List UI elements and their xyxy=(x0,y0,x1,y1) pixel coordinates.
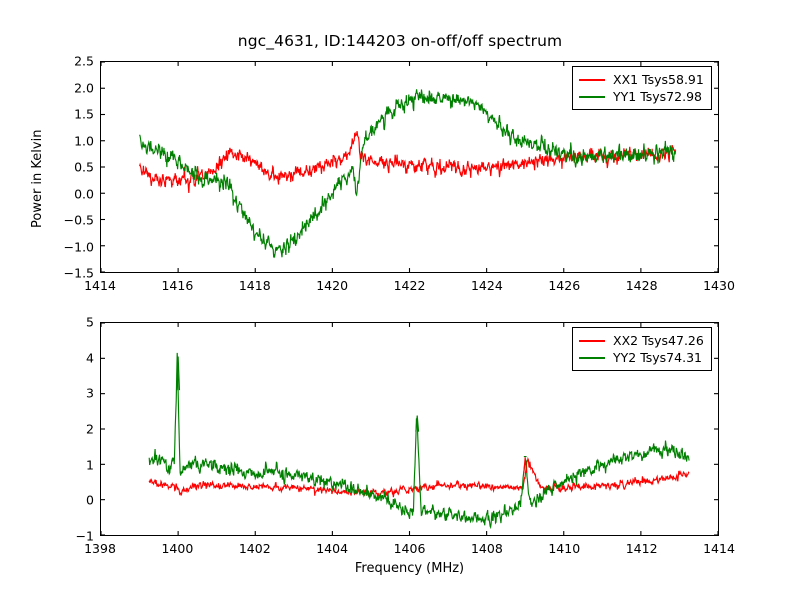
legend-item: YY1 Tsys72.98 xyxy=(579,88,704,105)
x-tick-label: 1404 xyxy=(316,541,348,556)
spectrum-trace xyxy=(140,89,676,257)
y-tick-label: 1.5 xyxy=(74,107,94,122)
legend-bottom: XX2 Tsys47.26YY2 Tsys74.31 xyxy=(572,327,712,371)
x-tick-label: 1418 xyxy=(239,278,271,293)
y-tick-label: 0 xyxy=(86,493,94,508)
y-tick-label: 2.5 xyxy=(74,54,94,69)
y-tick-label: −1.0 xyxy=(64,239,94,254)
spectrum-trace xyxy=(149,353,689,527)
y-tick-label: 1 xyxy=(86,457,94,472)
legend-item: XX2 Tsys47.26 xyxy=(579,332,704,349)
x-tick-label: 1416 xyxy=(161,278,193,293)
y-axis-label-top: Power in Kelvin xyxy=(30,130,45,228)
x-axis-label: Frequency (MHz) xyxy=(100,561,719,576)
legend-top: XX1 Tsys58.91YY1 Tsys72.98 xyxy=(572,66,712,110)
y-tick-label: 5 xyxy=(86,315,94,330)
x-tick-label: 1430 xyxy=(703,278,735,293)
spectrum-figure: ngc_4631, ID:144203 on-off/off spectrum … xyxy=(0,0,800,600)
legend-color-swatch xyxy=(579,79,605,81)
y-tick-label: 3 xyxy=(86,386,94,401)
x-tick-label: 1420 xyxy=(316,278,348,293)
y-tick-label: 2.0 xyxy=(74,80,94,95)
x-tick-label: 1414 xyxy=(703,541,735,556)
x-tick-label: 1412 xyxy=(626,541,658,556)
x-tick-label: 1428 xyxy=(626,278,658,293)
y-tick-label: 0.0 xyxy=(74,186,94,201)
x-tick-label: 1410 xyxy=(548,541,580,556)
legend-item: XX1 Tsys58.91 xyxy=(579,71,704,88)
y-tick-label: −1.5 xyxy=(64,266,94,281)
legend-color-swatch xyxy=(579,357,605,359)
legend-label: XX1 Tsys58.91 xyxy=(613,71,704,88)
x-tick-label: 1424 xyxy=(471,278,503,293)
x-tick-label: 1402 xyxy=(239,541,271,556)
legend-label: YY1 Tsys72.98 xyxy=(613,88,702,105)
legend-item: YY2 Tsys74.31 xyxy=(579,349,704,366)
y-tick-label: −1 xyxy=(76,529,94,544)
legend-color-swatch xyxy=(579,340,605,342)
page-title: ngc_4631, ID:144203 on-off/off spectrum xyxy=(0,32,800,50)
y-tick-label: 2 xyxy=(86,422,94,437)
legend-label: XX2 Tsys47.26 xyxy=(613,332,704,349)
x-tick-label: 1408 xyxy=(471,541,503,556)
y-tick-label: 1.0 xyxy=(74,133,94,148)
legend-label: YY2 Tsys74.31 xyxy=(613,349,702,366)
x-tick-label: 1426 xyxy=(548,278,580,293)
x-tick-label: 1422 xyxy=(394,278,426,293)
y-tick-label: −0.5 xyxy=(64,213,94,228)
y-tick-label: 0.5 xyxy=(74,160,94,175)
legend-color-swatch xyxy=(579,96,605,98)
y-tick-label: 4 xyxy=(86,350,94,365)
x-tick-label: 1406 xyxy=(394,541,426,556)
x-tick-label: 1400 xyxy=(161,541,193,556)
